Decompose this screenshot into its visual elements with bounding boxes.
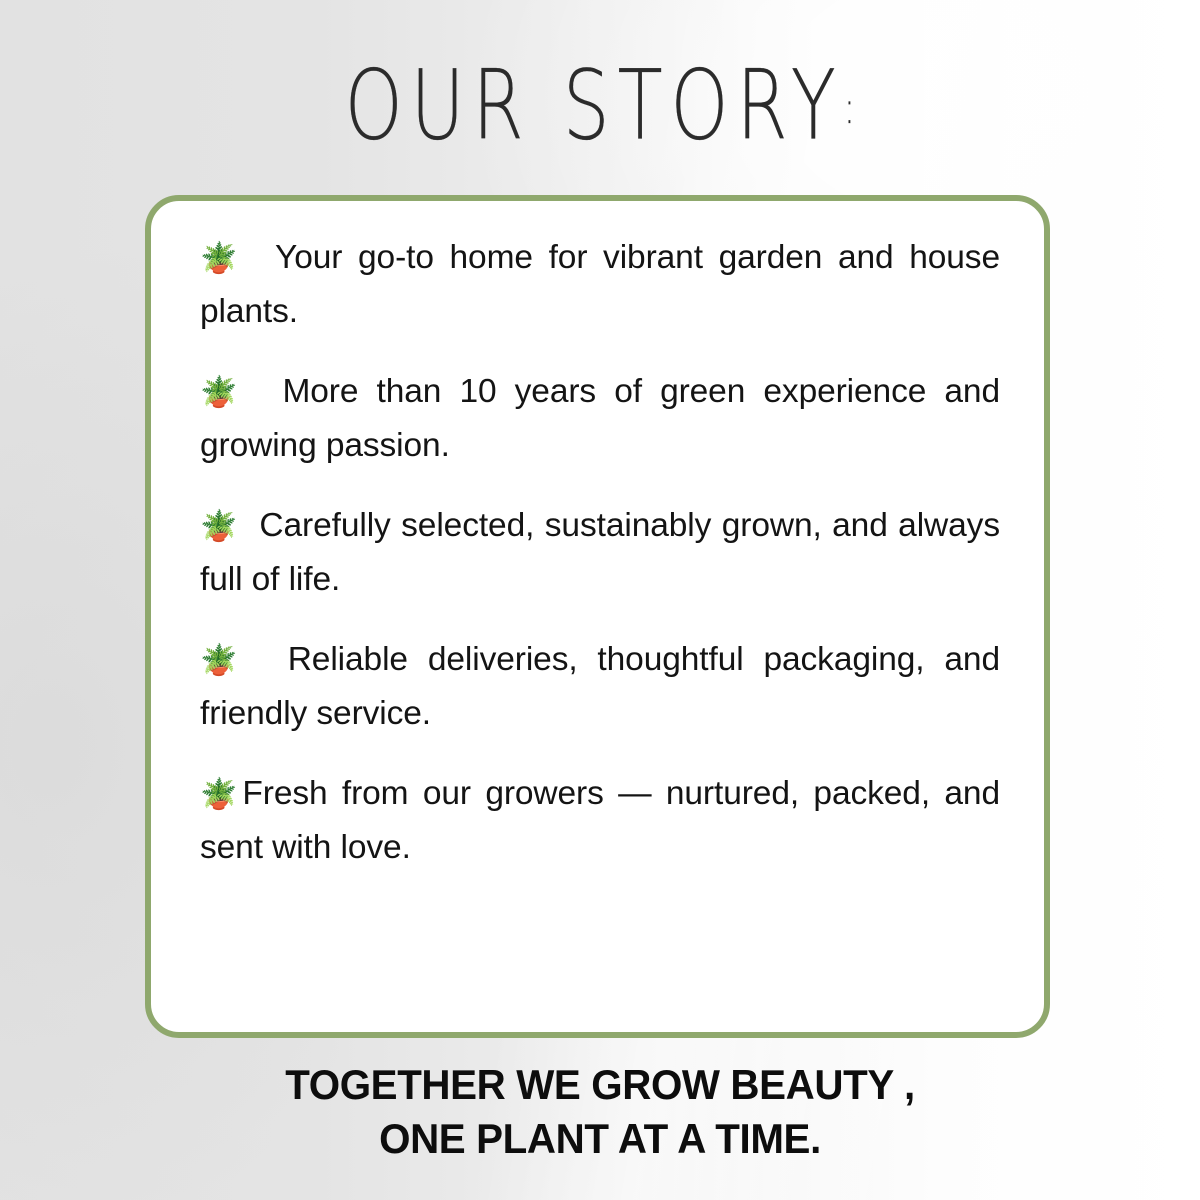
list-item: 🪴 More than 10 years of green experience… (200, 365, 1000, 472)
list-item: 🪴 Reliable deliveries, thoughtful packag… (200, 633, 1000, 740)
story-card: 🪴 Your go-to home for vibrant garden and… (145, 195, 1050, 1038)
page-title: OUR STORY: (345, 58, 856, 154)
potted-plant-icon: 🪴 (200, 777, 242, 812)
list-item-text: Reliable deliveries, thoughtful packagin… (200, 641, 1000, 732)
story-card-content: 🪴 Your go-to home for vibrant garden and… (200, 231, 1000, 1001)
tagline-line-2: ONE PLANT AT A TIME. (24, 1112, 1176, 1166)
list-item: 🪴Fresh from our growers — nurtured, pack… (200, 767, 1000, 874)
page-title-wrapper: OUR STORY: (0, 58, 1200, 144)
list-item: 🪴 Carefully selected, sustainably grown,… (200, 499, 1000, 606)
page-title-text: OUR STORY (345, 50, 844, 162)
footer-tagline: TOGETHER WE GROW BEAUTY , ONE PLANT AT A… (0, 1058, 1200, 1166)
potted-plant-icon: 🪴 (200, 241, 244, 276)
poster-canvas: OUR STORY: 🪴 Your go-to home for vibrant… (0, 0, 1200, 1200)
potted-plant-icon: 🪴 (200, 375, 246, 410)
list-item-text: Carefully selected, sustainably grown, a… (200, 507, 1000, 598)
tagline-line-1: TOGETHER WE GROW BEAUTY , (24, 1058, 1176, 1112)
potted-plant-icon: 🪴 (200, 509, 239, 544)
list-item-text: Fresh from our growers — nurtured, packe… (200, 775, 1000, 866)
list-item-text: More than 10 years of green experience a… (200, 373, 1000, 464)
list-item: 🪴 Your go-to home for vibrant garden and… (200, 231, 1000, 338)
potted-plant-icon: 🪴 (200, 643, 248, 678)
list-item-text: Your go-to home for vibrant garden and h… (200, 239, 1000, 330)
page-title-colon: : (844, 83, 856, 135)
